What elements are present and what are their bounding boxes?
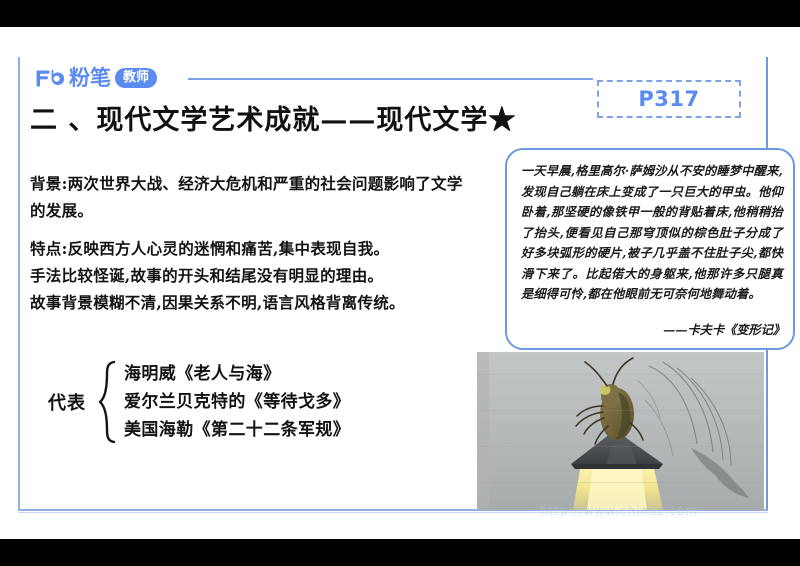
left-curly-brace-icon xyxy=(96,360,118,444)
page-title: 二 、现代文学艺术成就——现代文学★ xyxy=(30,98,516,137)
quote-body-text: 一天早晨,格里高尔·萨姆沙从不安的睡梦中醒来,发现自己躺在床上变成了一只巨大的甲… xyxy=(521,161,783,305)
image-watermark: http://www.chinaz.com xyxy=(540,504,770,520)
slide-canvas: 粉笔 教师 P317 二 、现代文学艺术成就——现代文学★ 背景:两次世界大战、… xyxy=(0,27,800,539)
body-spacer xyxy=(30,224,480,235)
body-line-technique: 手法比较怪诞,故事的开头和结尾没有明显的理由。 xyxy=(30,262,480,289)
quote-attribution: ——卡夫卡《变形记》 xyxy=(663,320,785,338)
page-number-badge: P317 xyxy=(597,80,741,118)
representative-item: 爱尔兰贝克特的《等待戈多》 xyxy=(124,388,350,416)
representatives-list: 海明威《老人与海》 爱尔兰贝克特的《等待戈多》 美国海勒《第二十二条军规》 xyxy=(124,360,350,444)
brand-logo-badge: 教师 xyxy=(115,68,157,88)
brand-logo-word: 粉笔 xyxy=(69,67,111,89)
representative-item: 海明威《老人与海》 xyxy=(124,360,350,388)
representatives-group: 代表 海明威《老人与海》 爱尔兰贝克特的《等待戈多》 美国海勒《第二十二条军规》 xyxy=(48,360,350,444)
representatives-label: 代表 xyxy=(48,389,86,415)
fb-logo-icon xyxy=(34,67,64,89)
header-divider-rule xyxy=(188,78,593,80)
insect-on-lamp-illustration-icon xyxy=(477,352,764,510)
body-line-features: 特点:反映西方人心灵的迷惘和痛苦,集中表现自我。 xyxy=(30,235,480,262)
metamorphosis-illustration xyxy=(477,352,764,510)
quote-callout-box: 一天早晨,格里高尔·萨姆沙从不安的睡梦中醒来,发现自己躺在床上变成了一只巨大的甲… xyxy=(505,148,795,350)
body-line-background: 背景:两次世界大战、经济大危机和严重的社会问题影响了文学的发展。 xyxy=(30,170,478,224)
slide-frame-left-border xyxy=(18,57,20,511)
slide-viewer: 粉笔 教师 P317 二 、现代文学艺术成就——现代文学★ 背景:两次世界大战、… xyxy=(0,0,800,566)
body-line-style: 故事背景模糊不清,因果关系不明,语言风格背离传统。 xyxy=(30,289,480,316)
page-number-label: P317 xyxy=(638,87,699,111)
brand-logo: 粉笔 教师 xyxy=(34,65,157,91)
representative-item: 美国海勒《第二十二条军规》 xyxy=(124,416,350,444)
slide-header: 粉笔 教师 P317 xyxy=(0,27,800,87)
body-text-block: 背景:两次世界大战、经济大危机和严重的社会问题影响了文学的发展。 特点:反映西方… xyxy=(30,170,480,316)
